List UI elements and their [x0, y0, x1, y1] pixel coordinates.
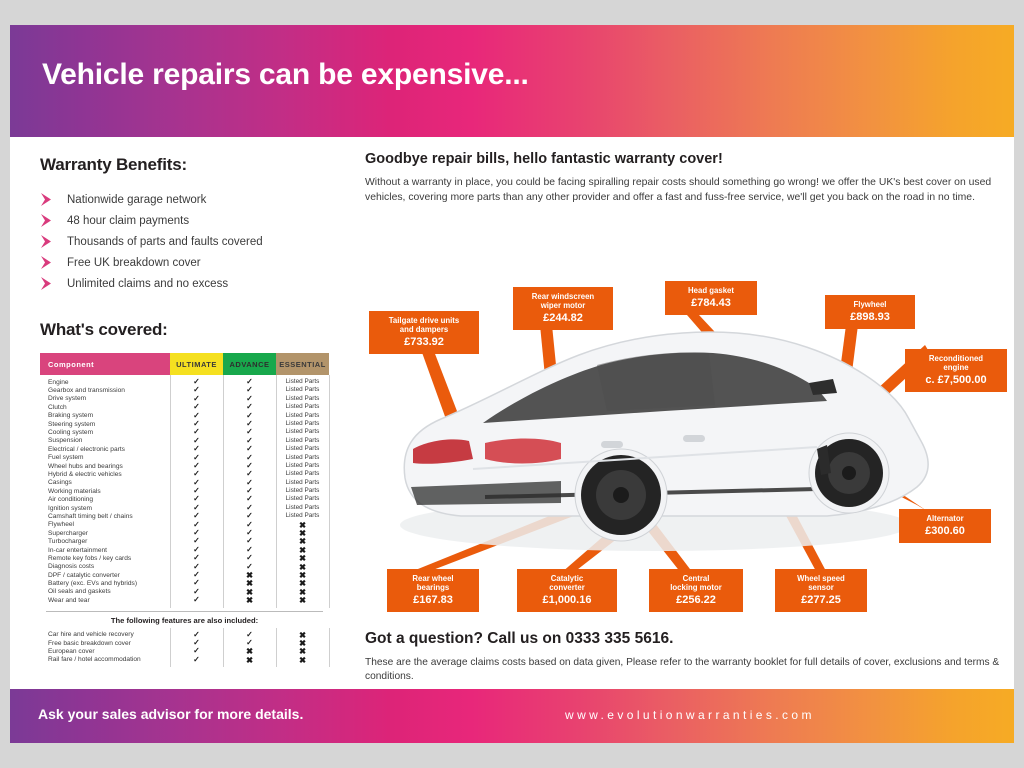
table-row: Ignition system✓✓Listed Parts [40, 504, 329, 512]
table-row: Gearbox and transmission✓✓Listed Parts [40, 386, 329, 394]
column-header-ultimate: ULTIMATE [170, 353, 223, 375]
cell-component: Rail fare / hotel accommodation [40, 656, 170, 663]
cell-component: In-car entertainment [40, 547, 170, 554]
callout-label: Tailgate drive units and dampers [376, 316, 472, 334]
callout-price: £277.25 [782, 594, 860, 606]
callout-rear-wheel-bearings: Rear wheel bearings £167.83 [387, 569, 479, 612]
page-title: Vehicle repairs can be expensive... [42, 58, 529, 92]
callout-price: £300.60 [906, 525, 984, 537]
column-divider [170, 628, 171, 668]
poster-sheet: Vehicle repairs can be expensive... Warr… [10, 25, 1014, 743]
table-row: Free basic breakdown cover✓✓✖ [40, 639, 329, 647]
right-column: Goodbye repair bills, hello fantastic wa… [365, 151, 1005, 205]
table-row: Casings✓✓Listed Parts [40, 479, 329, 487]
column-divider [329, 628, 330, 668]
right-paragraph: Without a warranty in place, you could b… [365, 176, 993, 205]
callout-flywheel: Flywheel £898.93 [825, 295, 915, 329]
table-row: Turbocharger✓✓✖ [40, 537, 329, 545]
car-illustration [400, 332, 928, 551]
extras-heading: The following features are also included… [40, 612, 329, 628]
right-heading: Goodbye repair bills, hello fantastic wa… [365, 151, 1005, 167]
column-header-advance: ADVANCE [223, 353, 276, 375]
table-row: DPF / catalytic converter✓✖✖ [40, 571, 329, 579]
table-row: Air conditioning✓✓Listed Parts [40, 495, 329, 503]
callout-catalytic-converter: Catalytic converter £1,000.16 [517, 569, 617, 612]
table-row: Battery (exc. EVs and hybrids)✓✖✖ [40, 579, 329, 587]
table-row: Braking system✓✓Listed Parts [40, 412, 329, 420]
benefits-list: Nationwide garage network 48 hour claim … [40, 189, 345, 294]
callout-price: £733.92 [376, 336, 472, 348]
cell-ultimate: ✓ [170, 656, 223, 664]
benefit-label: Free UK breakdown cover [67, 257, 201, 269]
callout-label: Catalytic converter [524, 574, 610, 592]
callout-central-locking-motor: Central locking motor £256.22 [649, 569, 743, 612]
table-row: Camshaft timing belt / chains✓✓Listed Pa… [40, 512, 329, 520]
callout-tailgate-drive-units: Tailgate drive units and dampers £733.92 [369, 311, 479, 354]
callout-label: Flywheel [832, 300, 908, 309]
cell-essential: Listed Parts [276, 403, 329, 411]
callout-label: Rear wheel bearings [394, 574, 472, 592]
arrow-right-icon [40, 214, 57, 227]
cell-essential: Listed Parts [276, 495, 329, 503]
cell-component: Wear and tear [40, 597, 170, 604]
cell-essential: ✖ [276, 596, 329, 604]
benefit-label: Thousands of parts and faults covered [67, 236, 263, 248]
question-block: Got a question? Call us on 0333 335 5616… [365, 630, 1005, 684]
table-row: Fuel system✓✓Listed Parts [40, 454, 329, 462]
cell-component: Drive system [40, 395, 170, 402]
column-divider [329, 375, 330, 608]
column-divider [276, 375, 277, 608]
cell-component: Car hire and vehicle recovery [40, 631, 170, 638]
poster-page: Vehicle repairs can be expensive... Warr… [0, 0, 1024, 768]
callout-alternator: Alternator £300.60 [899, 509, 991, 543]
list-item: 48 hour claim payments [40, 210, 345, 231]
header-banner: Vehicle repairs can be expensive... [10, 25, 1014, 137]
warranty-benefits-heading: Warranty Benefits: [40, 155, 345, 175]
cell-component: Clutch [40, 404, 170, 411]
coverage-table: Component ULTIMATE ADVANCE ESSENTIAL Eng… [40, 353, 329, 664]
callout-wheel-speed-sensor: Wheel speed sensor £277.25 [775, 569, 867, 612]
callout-price: £167.83 [394, 594, 472, 606]
table-row: Working materials✓✓Listed Parts [40, 487, 329, 495]
cell-component: Turbocharger [40, 538, 170, 545]
cell-component: Electrical / electronic parts [40, 446, 170, 453]
table-row: Diagnosis costs✓✓✖ [40, 563, 329, 571]
cell-component: Braking system [40, 412, 170, 419]
cell-component: Wheel hubs and bearings [40, 463, 170, 470]
callout-label: Wheel speed sensor [782, 574, 860, 592]
cell-component: Gearbox and transmission [40, 387, 170, 394]
arrow-right-icon [40, 256, 57, 269]
cell-component: Diagnosis costs [40, 563, 170, 570]
whats-covered-heading: What's covered: [40, 320, 345, 340]
arrow-right-icon [40, 235, 57, 248]
left-column: Warranty Benefits: Nationwide garage net… [40, 155, 345, 664]
footer-website: www.evolutionwarranties.com [565, 708, 815, 722]
callout-label: Head gasket [672, 286, 750, 295]
cell-essential: Listed Parts [276, 428, 329, 436]
table-row: Steering system✓✓Listed Parts [40, 420, 329, 428]
cell-component: Working materials [40, 488, 170, 495]
table-row: Engine✓✓Listed Parts [40, 378, 329, 386]
cell-essential: Listed Parts [276, 462, 329, 470]
table-row: Electrical / electronic parts✓✓Listed Pa… [40, 445, 329, 453]
cell-component: Steering system [40, 421, 170, 428]
table-row: Flywheel✓✓✖ [40, 521, 329, 529]
benefit-label: Unlimited claims and no excess [67, 278, 228, 290]
list-item: Free UK breakdown cover [40, 252, 345, 273]
column-divider [170, 375, 171, 608]
cell-essential: Listed Parts [276, 437, 329, 445]
arrow-right-icon [40, 193, 57, 206]
column-divider [276, 628, 277, 668]
cell-essential: Listed Parts [276, 504, 329, 512]
cell-component: DPF / catalytic converter [40, 572, 170, 579]
table-row: Cooling system✓✓Listed Parts [40, 428, 329, 436]
cell-component: European cover [40, 648, 170, 655]
list-item: Unlimited claims and no excess [40, 273, 345, 294]
callout-reconditioned-engine: Reconditioned engine c. £7,500.00 [905, 349, 1007, 392]
cell-component: Fuel system [40, 454, 170, 461]
cell-component: Ignition system [40, 505, 170, 512]
callout-price: £256.22 [656, 594, 736, 606]
callout-label: Central locking motor [656, 574, 736, 592]
column-divider [223, 375, 224, 608]
table-row: Drive system✓✓Listed Parts [40, 395, 329, 403]
table-row: In-car entertainment✓✓✖ [40, 546, 329, 554]
callout-label: Rear windscreen wiper motor [520, 292, 606, 310]
benefit-label: Nationwide garage network [67, 194, 206, 206]
callout-price: £1,000.16 [524, 594, 610, 606]
cell-essential: Listed Parts [276, 386, 329, 394]
table-row: Clutch✓✓Listed Parts [40, 403, 329, 411]
benefit-label: 48 hour claim payments [67, 215, 189, 227]
table-row: Wheel hubs and bearings✓✓Listed Parts [40, 462, 329, 470]
cell-ultimate: ✓ [170, 596, 223, 604]
cell-essential: Listed Parts [276, 378, 329, 386]
callout-price: £244.82 [520, 312, 606, 324]
cell-component: Oil seals and gaskets [40, 588, 170, 595]
cell-essential: Listed Parts [276, 412, 329, 420]
list-item: Thousands of parts and faults covered [40, 231, 345, 252]
cell-advance: ✖ [223, 596, 276, 604]
cell-essential: Listed Parts [276, 487, 329, 495]
cell-essential: Listed Parts [276, 445, 329, 453]
table-row: European cover✓✖✖ [40, 647, 329, 655]
cell-component: Remote key fobs / key cards [40, 555, 170, 562]
table-body: Engine✓✓Listed PartsGearbox and transmis… [40, 375, 329, 605]
cell-essential: ✖ [276, 656, 329, 664]
column-header-essential: ESSENTIAL [276, 353, 329, 375]
cell-component: Hybrid & electric vehicles [40, 471, 170, 478]
callout-price: £784.43 [672, 297, 750, 309]
cell-component: Free basic breakdown cover [40, 640, 170, 647]
table-row: Oil seals and gaskets✓✖✖ [40, 588, 329, 596]
cell-component: Air conditioning [40, 496, 170, 503]
cell-component: Battery (exc. EVs and hybrids) [40, 580, 170, 587]
column-header-component: Component [40, 353, 170, 375]
cell-component: Cooling system [40, 429, 170, 436]
table-row: Car hire and vehicle recovery✓✓✖ [40, 631, 329, 639]
table-row: Remote key fobs / key cards✓✓✖ [40, 554, 329, 562]
cell-component: Flywheel [40, 521, 170, 528]
car-diagram: Tailgate drive units and dampers £733.92… [365, 273, 1014, 618]
callout-head-gasket: Head gasket £784.43 [665, 281, 757, 315]
cell-component: Supercharger [40, 530, 170, 537]
table-row: Wear and tear✓✖✖ [40, 596, 329, 604]
cell-component: Engine [40, 379, 170, 386]
cell-essential: Listed Parts [276, 454, 329, 462]
column-divider [223, 628, 224, 668]
callout-label: Alternator [906, 514, 984, 523]
table-header-row: Component ULTIMATE ADVANCE ESSENTIAL [40, 353, 329, 375]
question-note: These are the average claims costs based… [365, 656, 1005, 684]
extras-body: Car hire and vehicle recovery✓✓✖Free bas… [40, 628, 329, 665]
callout-rear-windscreen-wiper-motor: Rear windscreen wiper motor £244.82 [513, 287, 613, 330]
cell-component: Camshaft timing belt / chains [40, 513, 170, 520]
arrow-right-icon [40, 277, 57, 290]
callout-price: £898.93 [832, 311, 908, 323]
callout-price: c. £7,500.00 [912, 374, 1000, 386]
cell-advance: ✖ [223, 656, 276, 664]
table-row: Hybrid & electric vehicles✓✓Listed Parts [40, 470, 329, 478]
cell-essential: Listed Parts [276, 470, 329, 478]
cell-essential: Listed Parts [276, 420, 329, 428]
question-title: Got a question? Call us on 0333 335 5616… [365, 630, 1005, 648]
callout-label: Reconditioned engine [912, 354, 1000, 372]
cell-component: Casings [40, 479, 170, 486]
cell-essential: Listed Parts [276, 395, 329, 403]
cell-essential: Listed Parts [276, 479, 329, 487]
footer-banner: Ask your sales advisor for more details.… [10, 689, 1014, 743]
table-row: Supercharger✓✓✖ [40, 529, 329, 537]
table-row: Suspension✓✓Listed Parts [40, 437, 329, 445]
list-item: Nationwide garage network [40, 189, 345, 210]
cell-component: Suspension [40, 437, 170, 444]
footer-cta: Ask your sales advisor for more details. [38, 706, 303, 722]
table-row: Rail fare / hotel accommodation✓✖✖ [40, 656, 329, 664]
